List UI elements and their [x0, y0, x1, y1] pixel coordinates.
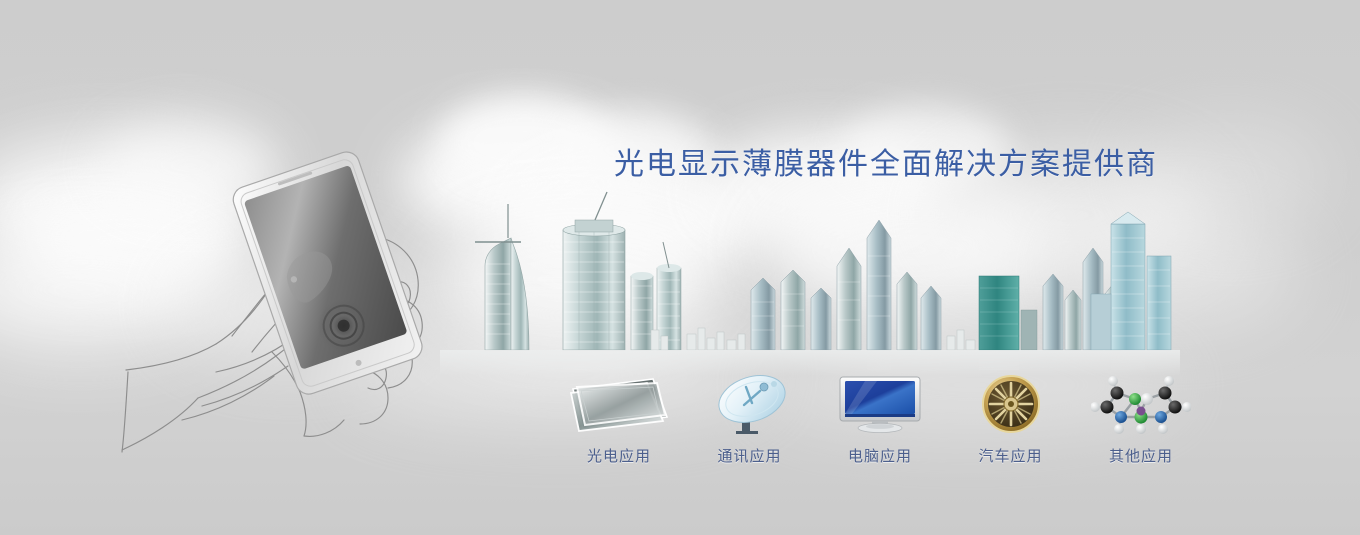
page-title: 光电显示薄膜器件全面解决方案提供商 — [614, 139, 1144, 183]
application-label: 通讯应用 — [717, 445, 781, 466]
satellite-dish-icon — [702, 373, 798, 435]
computer-monitor-icon — [832, 373, 928, 435]
application-item-optoelectronic[interactable]: 光电应用 — [560, 373, 678, 466]
application-label: 电脑应用 — [848, 445, 912, 466]
glass-skyscraper-skyline — [455, 190, 1175, 370]
application-label: 其他应用 — [1109, 445, 1173, 466]
hero-banner: 光电显示薄膜器件全面解决方案提供商 — [0, 0, 1360, 535]
application-item-computer[interactable]: 电脑应用 — [821, 373, 939, 466]
glass-film-panels-icon — [567, 373, 671, 435]
application-label: 汽车应用 — [978, 445, 1042, 466]
car-wheel-rim-icon — [971, 373, 1051, 435]
application-item-other[interactable]: 其他应用 — [1082, 373, 1200, 466]
application-label: 光电应用 — [587, 445, 651, 466]
application-item-communication[interactable]: 通讯应用 — [691, 373, 809, 466]
application-item-automotive[interactable]: 汽车应用 — [952, 373, 1070, 466]
molecule-model-icon — [1091, 373, 1191, 435]
application-icons: 光电应用 — [560, 356, 1200, 466]
hand-holding-smartphone-sketch — [120, 120, 500, 510]
